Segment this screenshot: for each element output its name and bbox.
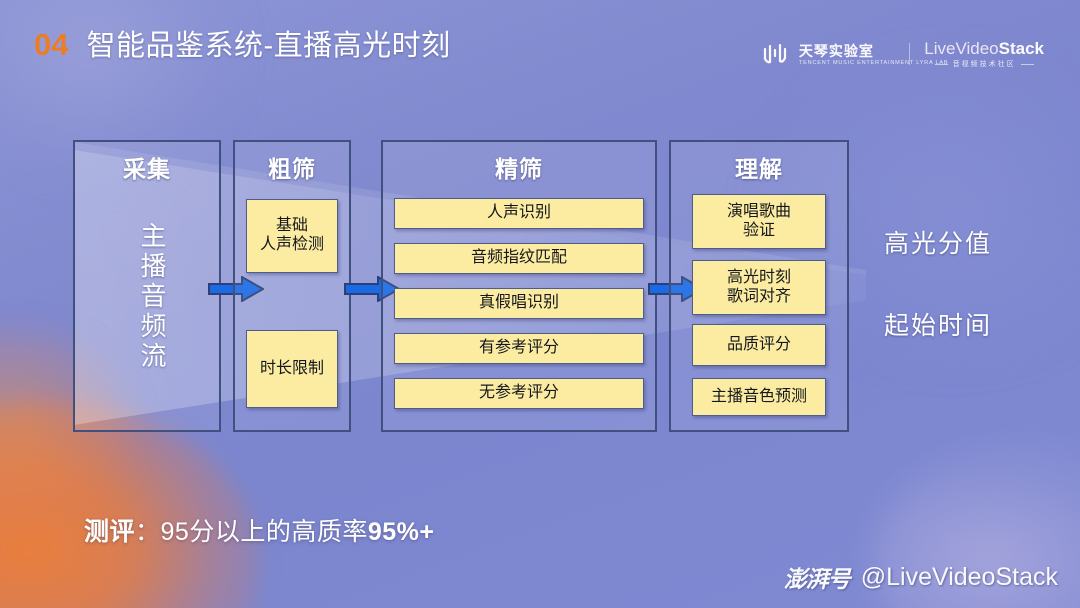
watermark-brand-cn: 澎湃号 [784, 560, 850, 594]
coarse-item-0[interactable]: 基础 人声检测 [246, 199, 338, 273]
stage-title-collect: 采集 [73, 150, 221, 184]
understand-item-2[interactable]: 品质评分 [692, 324, 826, 366]
understand-item-1[interactable]: 高光时刻 歌词对齐 [692, 260, 826, 315]
coarse-item-1[interactable]: 时长限制 [246, 330, 338, 408]
fine-item-1[interactable]: 音频指纹匹配 [394, 243, 644, 274]
fine-item-0[interactable]: 人声识别 [394, 198, 644, 229]
output-label-score: 高光分值 [884, 224, 992, 260]
slide-root: 04 智能品鉴系统-直播高光时刻 天琴实验室 TENCENT MUSIC ENT… [0, 0, 1080, 608]
understand-item-0[interactable]: 演唱歌曲 验证 [692, 194, 826, 249]
stage-title-understand: 理解 [669, 150, 849, 184]
output-label-time: 起始时间 [884, 306, 992, 342]
evaluation-note-text: 95分以上的高质率 [161, 518, 368, 546]
stage-title-coarse: 粗筛 [233, 150, 351, 184]
fine-item-4[interactable]: 无参考评分 [394, 378, 644, 409]
evaluation-note-emphasis: 95%+ [368, 518, 435, 546]
stage-title-fine: 精筛 [381, 150, 657, 184]
evaluation-note: 测评：95分以上的高质率95%+ [84, 512, 434, 548]
understand-item-3[interactable]: 主播音色预测 [692, 378, 826, 416]
watermark-handle: @LiveVideoStack [861, 563, 1058, 592]
collect-vertical-label: 主播音频流 [134, 222, 171, 372]
fine-item-2[interactable]: 真假唱识别 [394, 288, 644, 319]
fine-item-3[interactable]: 有参考评分 [394, 333, 644, 364]
watermark: 澎湃号 @LiveVideoStack [784, 560, 1058, 594]
evaluation-note-colon: ： [135, 518, 161, 546]
evaluation-note-label: 测评 [84, 518, 135, 546]
